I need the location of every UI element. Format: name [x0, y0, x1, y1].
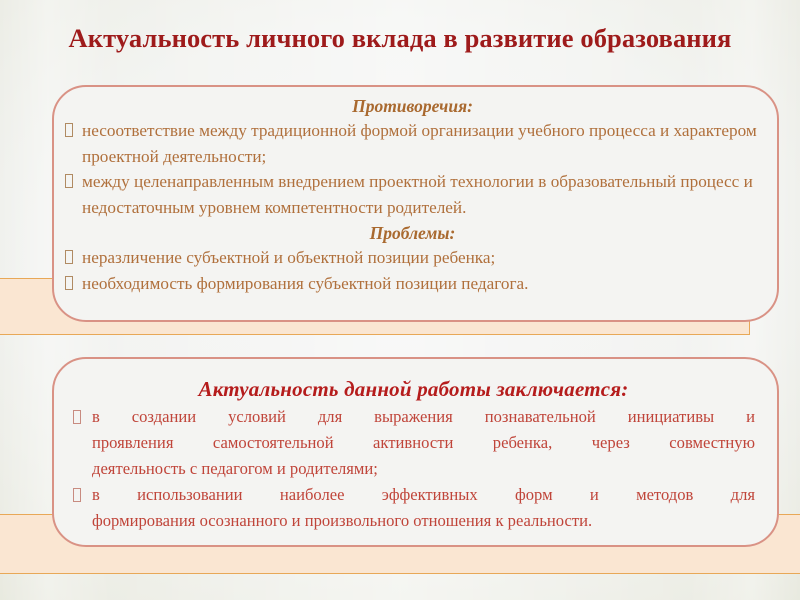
list-item: неразличение субъектной и объектной пози…: [64, 245, 761, 271]
list-item: между целенаправленным внедрением проект…: [64, 169, 761, 220]
list-item-text: необходимость формирования субъектной по…: [82, 274, 528, 293]
slide-canvas: Актуальность личного вклада в развитие о…: [0, 0, 800, 600]
list-item-text: между целенаправленным внедрением проект…: [82, 172, 753, 217]
problems-list: неразличение субъектной и объектной пози…: [64, 245, 761, 296]
missing-glyph-box-icon: [73, 410, 81, 424]
missing-glyph-box-icon: [65, 250, 73, 264]
contradictions-box: Противоречия: несоответствие между тради…: [52, 85, 779, 322]
list-item: в создании условий для выражения познава…: [72, 404, 755, 482]
list-item: необходимость формирования субъектной по…: [64, 271, 761, 297]
relevance-list: в создании условий для выражения познава…: [72, 404, 755, 534]
list-item-line: в создании условий для выражения познава…: [92, 404, 755, 430]
list-item: в использовании наиболее эффективных фор…: [72, 482, 755, 534]
list-item-text: неразличение субъектной и объектной пози…: [82, 248, 495, 267]
list-item-text: несоответствие между традиционной формой…: [82, 121, 757, 166]
missing-glyph-box-icon: [65, 276, 73, 290]
list-item-line: формирования осознанного и произвольного…: [92, 508, 755, 534]
relevance-heading: Актуальность данной работы заключается:: [72, 377, 755, 402]
missing-glyph-box-icon: [73, 488, 81, 502]
problems-heading: Проблемы:: [64, 223, 761, 244]
list-item-line: деятельность с педагогом и родителями;: [92, 456, 755, 482]
list-item: несоответствие между традиционной формой…: [64, 118, 761, 169]
page-title: Актуальность личного вклада в развитие о…: [0, 23, 800, 54]
list-item-line: проявления самостоятельной активности ре…: [92, 430, 755, 456]
contradictions-heading: Противоречия:: [64, 96, 761, 117]
missing-glyph-box-icon: [65, 123, 73, 137]
relevance-box: Актуальность данной работы заключается: …: [52, 357, 779, 547]
list-item-line: в использовании наиболее эффективных фор…: [92, 482, 755, 508]
missing-glyph-box-icon: [65, 174, 73, 188]
contradictions-list: несоответствие между традиционной формой…: [64, 118, 761, 220]
